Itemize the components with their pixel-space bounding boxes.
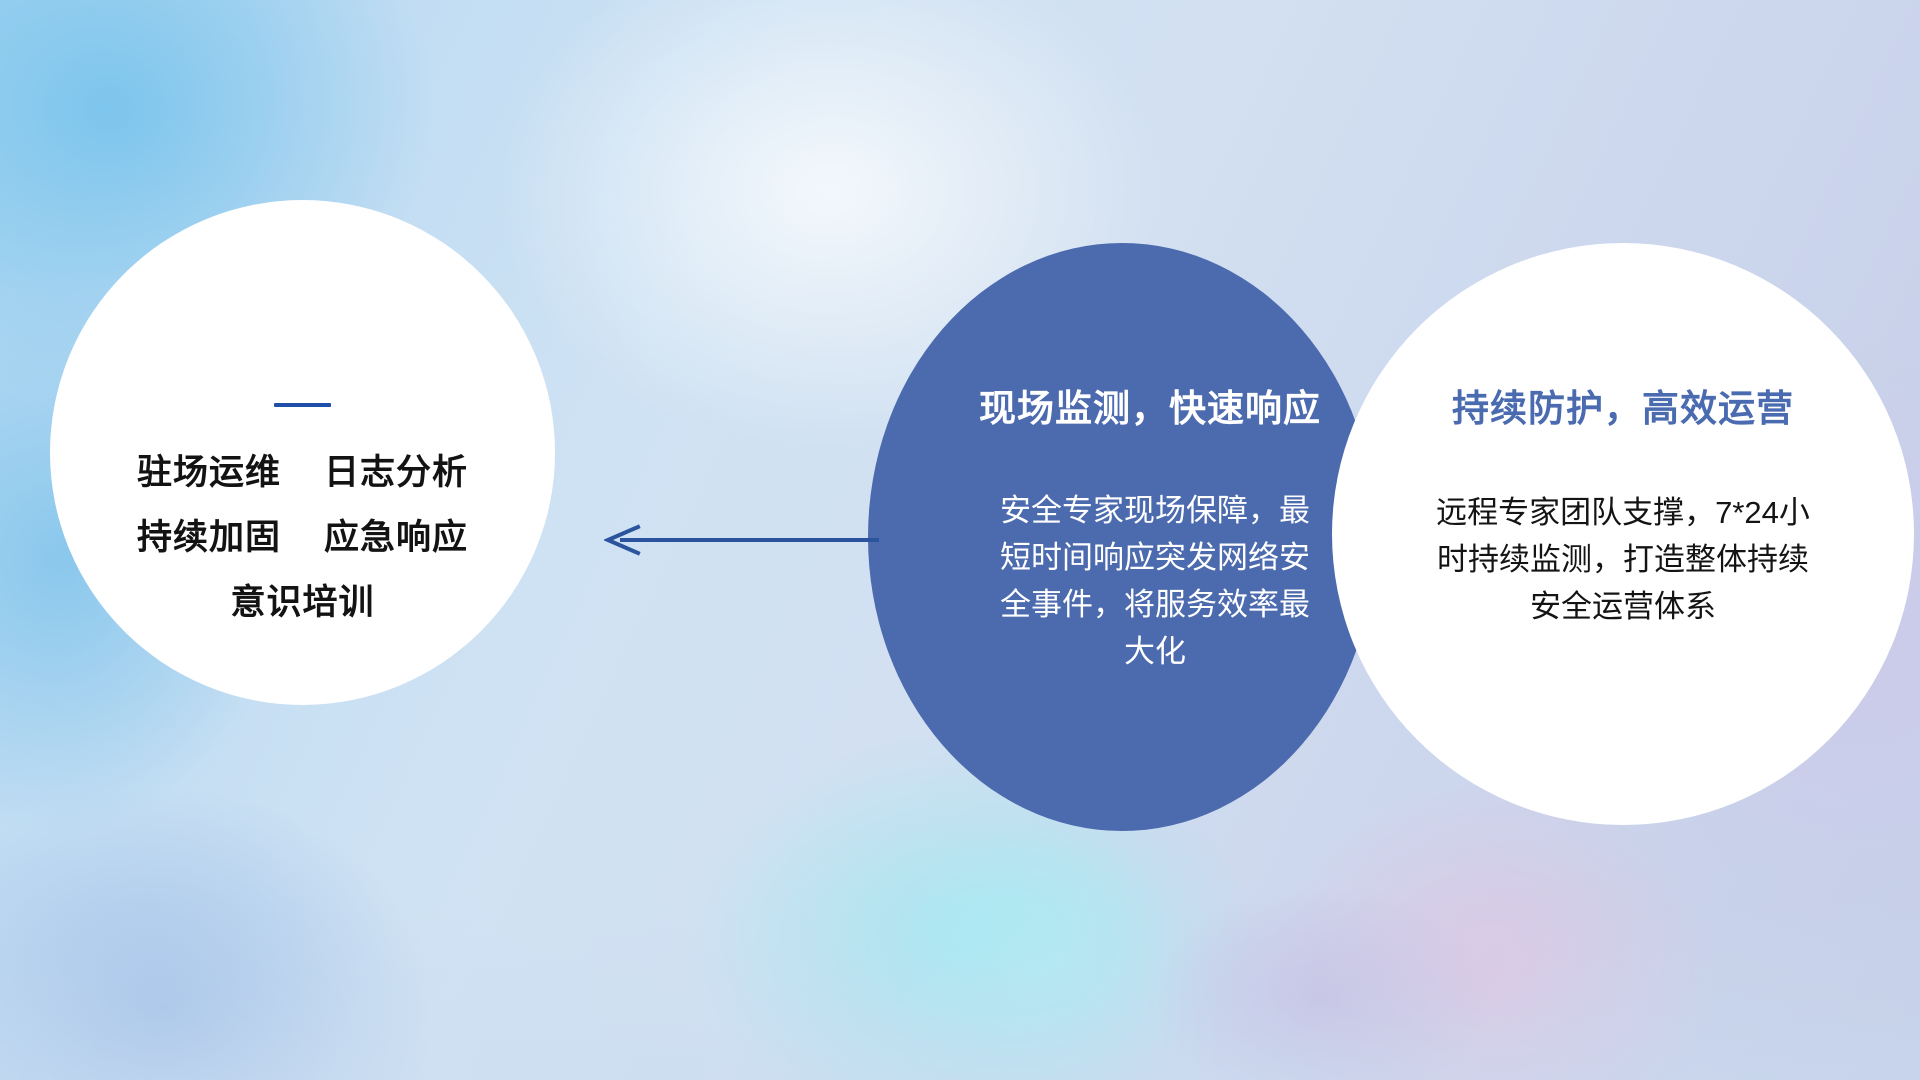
- background-fade-bottom: [0, 900, 1920, 1080]
- middle-card-title: 现场监测，快速响应: [979, 378, 1321, 432]
- middle-card-body: 安全专家现场保障，最短时间响应突发网络安全事件，将服务效率最大化: [990, 487, 1320, 675]
- background-glow-left-bottom: [0, 700, 540, 1080]
- connector-arrow: [604, 524, 879, 556]
- right-card-title: 持续防护，高效运营: [1452, 378, 1794, 432]
- right-card-body: 远程专家团队支撑，7*24小时持续监测，打造整体持续安全运营体系: [1423, 489, 1823, 630]
- slide-canvas: 驻场运维 日志分析 持续加固 应急响应 意识培训 现场监测，快速响应 安全专家现…: [0, 0, 1920, 1080]
- left-card-content: 驻场运维 日志分析 持续加固 应急响应 意识培训: [50, 200, 555, 705]
- left-card-line-2: 持续加固 应急响应: [137, 520, 468, 555]
- left-card-line-3: 意识培训: [230, 585, 374, 620]
- middle-card-content: 现场监测，快速响应 安全专家现场保障，最短时间响应突发网络安全事件，将服务效率最…: [868, 243, 1376, 831]
- left-card-accent-rule: [274, 403, 331, 407]
- left-card-line-1: 驻场运维 日志分析: [137, 455, 468, 490]
- background-glow-lavender-middle: [1080, 840, 1560, 1080]
- right-card-content: 持续防护，高效运营 远程专家团队支撑，7*24小时持续监测，打造整体持续安全运营…: [1332, 243, 1914, 825]
